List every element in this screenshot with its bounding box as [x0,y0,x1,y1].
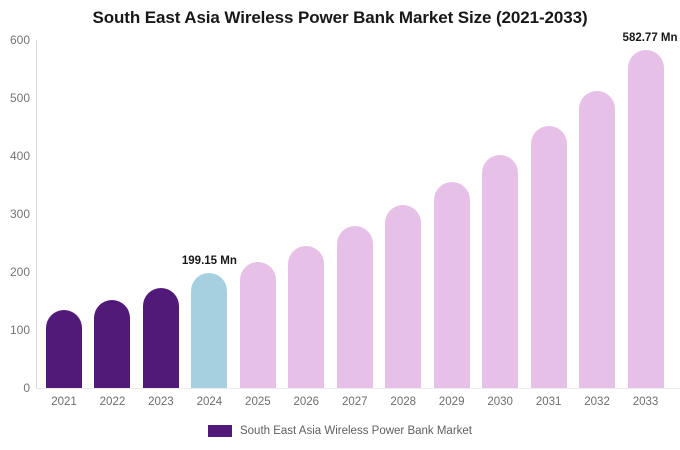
y-axis-tick-400: 400 [0,149,30,163]
bars-layer: 202120222023199.15 Mn2024202520262027202… [36,40,680,388]
bar-value-label-2024: 199.15 Mn [182,255,237,267]
bar-2023[interactable] [143,288,179,388]
x-axis-tick-2031: 2031 [531,396,567,408]
bar-group-2023: 2023 [143,40,179,388]
chart-title: South East Asia Wireless Power Bank Mark… [0,8,680,28]
bar-2031[interactable] [531,126,567,388]
x-axis-tick-2028: 2028 [385,396,421,408]
bar-2032[interactable] [579,91,615,388]
bar-group-2029: 2029 [434,40,470,388]
y-axis-tick-100: 100 [0,323,30,337]
bar-group-2030: 2030 [482,40,518,388]
bar-2030[interactable] [482,155,518,388]
x-axis-tick-2027: 2027 [337,396,373,408]
chart-container: South East Asia Wireless Power Bank Mark… [0,0,680,450]
y-axis-tick-300: 300 [0,207,30,221]
bar-2028[interactable] [385,205,421,388]
bar-group-2033: 582.77 Mn2033 [628,40,664,388]
x-axis-tick-2030: 2030 [482,396,518,408]
x-axis-tick-2029: 2029 [434,396,470,408]
bar-2026[interactable] [288,246,324,388]
x-axis-tick-2033: 2033 [628,396,664,408]
bar-2024[interactable] [191,273,227,389]
bar-2021[interactable] [46,310,82,388]
bar-2029[interactable] [434,182,470,388]
bar-group-2031: 2031 [531,40,567,388]
x-axis-tick-2024: 2024 [191,396,227,408]
x-axis-tick-2025: 2025 [240,396,276,408]
bar-value-label-2033: 582.77 Mn [623,32,678,44]
bar-group-2024: 199.15 Mn2024 [191,40,227,388]
bar-group-2026: 2026 [288,40,324,388]
bar-2022[interactable] [94,300,130,388]
chart-legend: South East Asia Wireless Power Bank Mark… [0,425,680,437]
bar-group-2022: 2022 [94,40,130,388]
y-axis-tick-600: 600 [0,33,30,47]
x-axis-tick-2021: 2021 [46,396,82,408]
x-axis-tick-2022: 2022 [94,396,130,408]
bar-group-2028: 2028 [385,40,421,388]
bar-2033[interactable] [628,50,664,388]
bar-2025[interactable] [240,262,276,388]
x-axis-line [36,388,680,389]
y-axis-tick-0: 0 [0,381,30,395]
bar-group-2027: 2027 [337,40,373,388]
bar-group-2032: 2032 [579,40,615,388]
y-axis-tick-500: 500 [0,91,30,105]
bar-group-2021: 2021 [46,40,82,388]
x-axis-tick-2023: 2023 [143,396,179,408]
x-axis-tick-2032: 2032 [579,396,615,408]
plot-area: 0100200300400500600 202120222023199.15 M… [36,40,680,388]
x-axis-tick-2026: 2026 [288,396,324,408]
legend-label: South East Asia Wireless Power Bank Mark… [240,425,472,437]
bar-group-2025: 2025 [240,40,276,388]
legend-swatch-icon [208,425,232,437]
y-axis-tick-200: 200 [0,265,30,279]
bar-2027[interactable] [337,226,373,388]
